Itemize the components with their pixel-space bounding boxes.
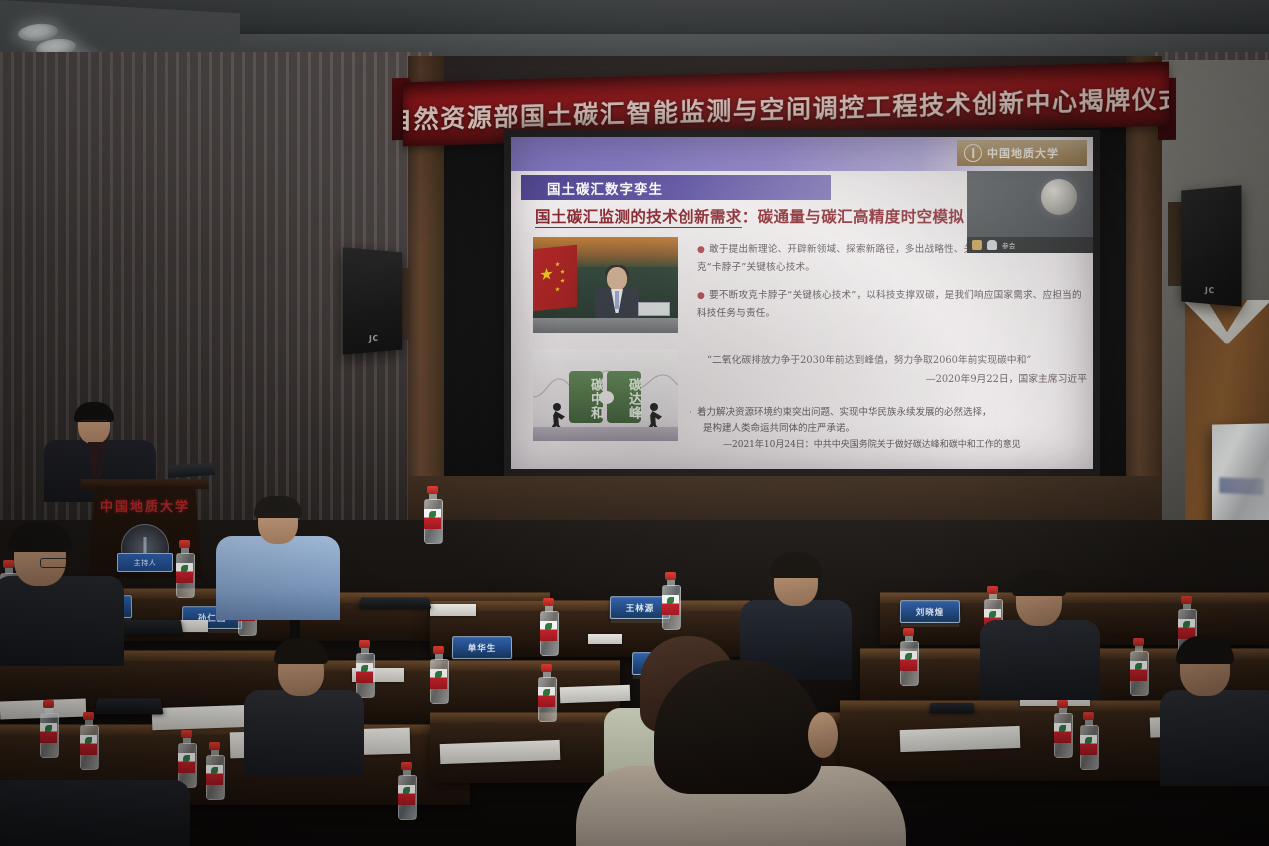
video-conference-overlay[interactable]: 参会 <box>967 171 1093 253</box>
flag-star-icon <box>540 267 553 281</box>
attendee-person <box>1160 640 1269 780</box>
presenter-glasses-icon <box>81 420 107 427</box>
attendee-person <box>980 572 1100 696</box>
document-sheet <box>430 604 476 616</box>
water-bottle-icon <box>40 700 57 756</box>
microphone-icon[interactable] <box>987 240 997 250</box>
attendee-body <box>1160 690 1269 786</box>
slide-section-label: 国土碳汇数字孪生 <box>547 178 663 198</box>
water-bottle-icon <box>430 646 447 702</box>
speaker-bracket-right <box>1168 202 1182 286</box>
figure-tie <box>615 291 619 309</box>
projection-screen-frame: 中国地质大学 国土碳汇数字孪生 国土碳汇监测的技术创新需求：碳通量与碳汇高精度时… <box>504 130 1100 476</box>
attendee-hair <box>1012 570 1066 596</box>
banner-text: 自然资源部国土碳汇智能监测与空间调控工程技术创新中心揭牌仪式 <box>403 79 1169 137</box>
nameplate: 刘晓煌 <box>900 600 960 623</box>
nameplate-label: 刘晓煌 <box>916 606 945 618</box>
water-bottle-icon <box>206 742 223 798</box>
water-bottle-icon <box>424 486 441 542</box>
wall-speaker-icon: JC <box>1181 185 1241 307</box>
bullet3-line1: 着力解决资源环境约束突出问题、实现中华民族永续发展的必然选择， <box>697 407 992 418</box>
attendee-body <box>0 576 124 666</box>
water-bottle-icon <box>1080 712 1097 768</box>
attendee-hair <box>1176 636 1234 664</box>
slide-photo-leader <box>533 237 678 333</box>
photo-desk <box>533 318 678 333</box>
attendee-person <box>576 660 906 846</box>
flag-star-icon <box>555 261 560 267</box>
laptop-device[interactable] <box>359 598 432 609</box>
desk-surface <box>430 601 750 611</box>
nameplate-label: 单华生 <box>468 642 497 654</box>
speaker-brand-right: JC <box>1205 286 1215 296</box>
slide-quote: “二氧化碳排放力争于2030年前达到峰值，努力争取2060年前实现碳中和” —2… <box>707 351 1093 389</box>
laptop-device[interactable] <box>94 698 163 714</box>
water-bottle-icon <box>540 598 557 654</box>
bullet3-source: —2021年10月24日：中共中央国务院关于做好碳达峰和碳中和工作的意见 <box>689 437 1089 453</box>
earth-thumbnail-icon <box>1041 179 1077 215</box>
china-flag-icon <box>533 245 577 312</box>
video-overlay-label: 参会 <box>1002 240 1016 250</box>
water-bottle-icon <box>176 540 193 596</box>
university-logo: 中国地质大学 <box>957 140 1087 166</box>
attendee-ear <box>808 712 838 758</box>
attendee-body <box>0 780 190 846</box>
flag-star-icon <box>560 269 565 275</box>
attendee-hair <box>274 638 328 664</box>
slide-bullet-3: ·着力解决资源环境约束突出问题、实现中华民族永续发展的必然选择， 是构建人类命运… <box>689 405 1089 453</box>
university-name: 中国地质大学 <box>987 145 1059 161</box>
laptop-device[interactable] <box>123 620 183 635</box>
graphic-connector-icon <box>599 391 614 404</box>
document-sheet <box>440 740 561 764</box>
wall-speaker-icon: JC <box>343 247 402 354</box>
slide-bullet-2: ●要不断攻克卡脖子“关键核心技术”，以科技支撑双碳，是我们响应国家需求、应担当的… <box>697 287 1087 322</box>
attendee-body <box>980 620 1100 700</box>
water-bottle-icon <box>398 762 415 818</box>
attendee-hair <box>8 522 72 552</box>
bullet-text: 要不断攻克卡脖子“关键核心技术”，以科技支撑双碳，是我们响应国家需求、应担当的科… <box>697 290 1082 319</box>
quote-attribution: —2020年9月22日，国家主席习近平 <box>707 370 1093 389</box>
speaker-brand-left: JC <box>369 334 379 344</box>
video-toolbar[interactable]: 参会 <box>967 237 1093 253</box>
laptop-device[interactable] <box>929 703 974 713</box>
attendee-person <box>0 760 190 846</box>
attendee-hair <box>654 660 822 794</box>
attendee-person <box>216 498 340 618</box>
attendee-body <box>216 536 340 620</box>
attendee-body <box>244 690 364 776</box>
podium-brand: 中国地质大学 <box>100 496 190 515</box>
carbon-neutral-block: 碳中和 <box>569 371 603 423</box>
conference-room-photo: 自然资源部国土碳汇智能监测与空间调控工程技术创新中心揭牌仪式 JC JC 中国地… <box>0 0 1269 846</box>
flag-star-icon <box>560 278 565 284</box>
bullet3-line2: 是构建人类命运共同体的庄严承诺。 <box>689 421 1089 437</box>
attendee-hair <box>770 552 822 578</box>
attendee-person <box>244 640 364 770</box>
podium-nameplate-label: 主持人 <box>134 558 157 568</box>
presenter-hair <box>74 402 114 422</box>
flag-star-icon <box>555 286 560 292</box>
water-bottle-icon <box>538 664 555 720</box>
quote-text: “二氧化碳排放力争于2030年前达到峰值，努力争取2060年前实现碳中和” <box>707 351 1093 370</box>
water-bottle-icon <box>1130 638 1147 694</box>
eyeglasses-icon <box>40 558 74 568</box>
bullet-marker: ● <box>697 245 705 255</box>
podium-nameplate: 主持人 <box>117 553 173 572</box>
photo-nameplate <box>638 302 670 316</box>
participant-icon[interactable] <box>972 240 982 250</box>
attendee-person <box>0 520 124 660</box>
university-seal-icon <box>964 144 982 162</box>
bullet-marker: ● <box>697 291 705 301</box>
slide-section-tag: 国土碳汇数字孪生 <box>521 175 831 200</box>
slide-carbon-graphic: 碳中和 碳达峰 <box>533 349 678 441</box>
figure-head <box>607 267 627 290</box>
bullet-marker: · <box>689 407 692 418</box>
document-sheet <box>900 726 1021 752</box>
attendee-hair <box>254 496 302 518</box>
water-bottle-icon <box>662 572 679 628</box>
slide-headline-rest: ：碳通量与碳汇高精度时空模拟 <box>742 208 965 226</box>
water-bottle-icon <box>1054 700 1071 756</box>
presentation-slide: 中国地质大学 国土碳汇数字孪生 国土碳汇监测的技术创新需求：碳通量与碳汇高精度时… <box>511 137 1093 469</box>
nameplate: 单华生 <box>452 636 512 659</box>
graphic-floor <box>533 427 678 441</box>
slide-headline-key: 国土碳汇监测的技术创新需求 <box>535 208 742 228</box>
nameplate-label: 王林源 <box>626 602 655 614</box>
